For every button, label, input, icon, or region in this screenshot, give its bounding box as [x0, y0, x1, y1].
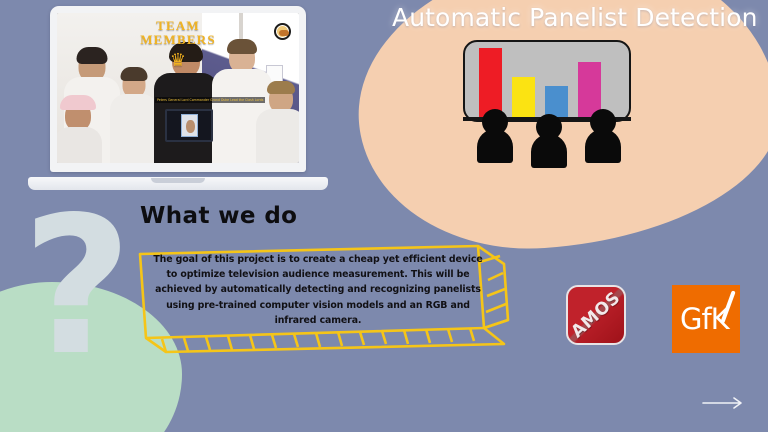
laptop-base: [28, 177, 328, 190]
laptop-mockup: Peters General Lord Commander Grand Duke…: [28, 6, 328, 190]
photo-title: TEAM MEMBERS: [57, 19, 299, 46]
question-mark-icon: ?: [22, 192, 132, 382]
audience-figure: [477, 109, 513, 165]
page-title: Automatic Panelist Detection: [392, 3, 758, 32]
presentation-slide: ? Automatic Panelist Detection: [0, 0, 768, 432]
held-laptop-demo: [165, 109, 213, 142]
laptop-screen: Peters General Lord Commander Grand Duke…: [57, 13, 299, 163]
callout-box: The goal of this project is to create a …: [136, 242, 512, 354]
panelist-illustration: [455, 40, 645, 165]
audience-figure: [531, 114, 567, 170]
amos-logo[interactable]: AMOS: [566, 285, 626, 345]
team-member: [109, 71, 159, 163]
laptop-lid: Peters General Lord Commander Grand Duke…: [50, 6, 306, 172]
gfk-logo[interactable]: GfK: [672, 285, 740, 353]
section-heading: What we do: [140, 203, 297, 229]
amos-logo-label: AMOS: [567, 288, 624, 342]
face-detection-box: [181, 114, 198, 137]
callout-body-text: The goal of this project is to create a …: [150, 252, 486, 328]
team-photo: Peters General Lord Commander Grand Duke…: [57, 13, 299, 163]
detection-label: Peters General Lord Commander Grand Duke…: [155, 97, 265, 103]
laptop-notch: [151, 178, 205, 183]
crown-icon: ♛: [170, 51, 186, 69]
audience-figures: [455, 102, 645, 165]
partner-logos: AMOS GfK: [566, 285, 754, 357]
audience-figure: [585, 109, 621, 165]
team-member: [57, 101, 103, 163]
next-slide-arrow-icon[interactable]: [702, 396, 746, 410]
